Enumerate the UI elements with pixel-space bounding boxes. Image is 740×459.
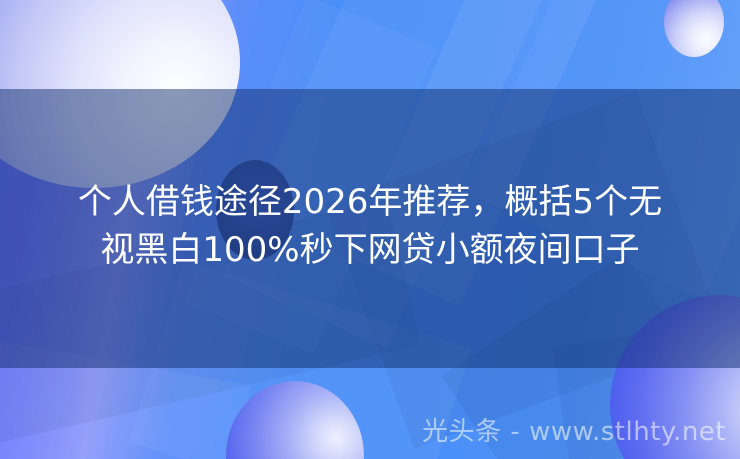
banner-headline: 个人借钱途径2026年推荐，概括5个无 视黑白100%秒下网贷小额夜间口子 — [0, 178, 740, 274]
site-watermark: 光头条 - www.stlhty.net — [422, 417, 726, 447]
headline-line-2: 视黑白100%秒下网贷小额夜间口子 — [0, 226, 740, 274]
headline-line-1: 个人借钱途径2026年推荐，概括5个无 — [0, 178, 740, 226]
promo-banner: 个人借钱途径2026年推荐，概括5个无 视黑白100%秒下网贷小额夜间口子 光头… — [0, 0, 740, 459]
